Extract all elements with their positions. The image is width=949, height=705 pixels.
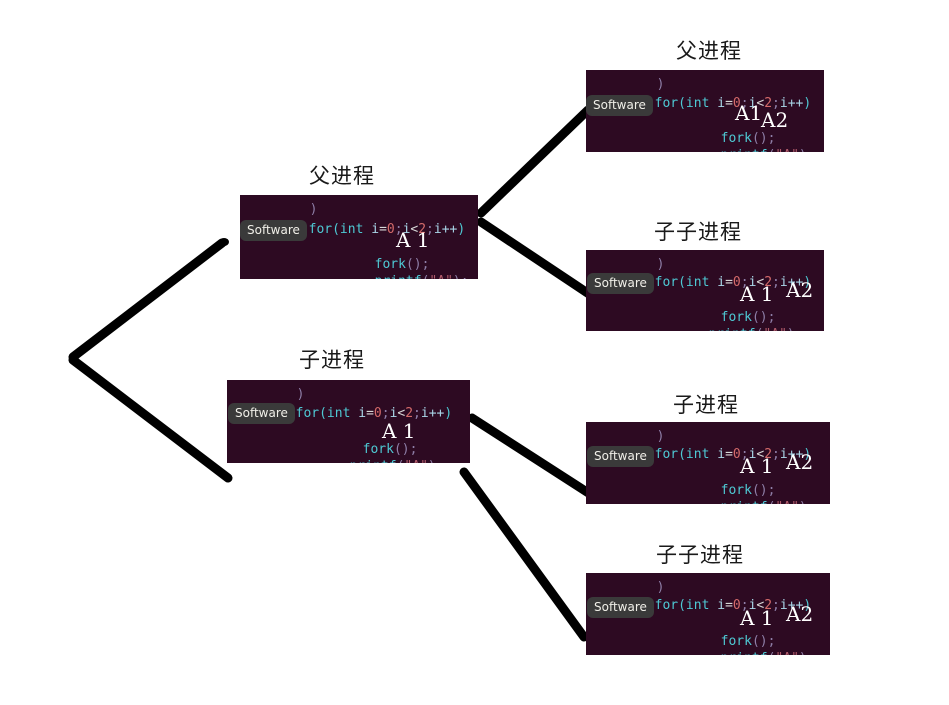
annotation-a1: A 1 — [382, 421, 416, 441]
edge-parent-to-childchild1 — [481, 222, 592, 296]
annotation-a2: A2 — [786, 452, 813, 472]
annotation-a1: A 1 — [740, 608, 774, 628]
node-title: 子子进程 — [654, 222, 742, 243]
software-tooltip: Software — [586, 95, 653, 116]
fork-process-tree-diagram: 父进程 ) for(int i=0;i<2;i++) fork(); print… — [0, 0, 949, 705]
software-tooltip: Software — [228, 403, 295, 424]
annotation-a2: A2 — [786, 280, 813, 300]
node-title: 子进程 — [673, 395, 739, 416]
node-title: 子进程 — [299, 350, 365, 371]
node-title: 父进程 — [309, 166, 375, 187]
edge-root-to-child — [73, 360, 228, 478]
node-title: 父进程 — [676, 41, 742, 62]
edge-root-to-parent — [73, 243, 222, 357]
software-tooltip: Software — [587, 273, 654, 294]
edge-child-to-childchild2 — [464, 472, 584, 637]
annotation-a1: A 1 — [396, 230, 430, 250]
annotation-a1: A 1 — [740, 284, 774, 304]
software-tooltip: Software — [587, 446, 654, 467]
edge-parent-to-parentagain — [481, 110, 588, 213]
annotation-a2: A2 — [786, 604, 813, 624]
annotation-a2: A2 — [761, 110, 788, 130]
annotation-a1: A1 — [735, 103, 762, 123]
annotation-a1: A 1 — [740, 456, 774, 476]
edge-dot-parent — [219, 238, 229, 246]
edge-child-to-child2 — [472, 418, 590, 494]
software-tooltip: Software — [587, 597, 654, 618]
software-tooltip: Software — [240, 220, 307, 241]
node-title: 子子进程 — [656, 545, 744, 566]
